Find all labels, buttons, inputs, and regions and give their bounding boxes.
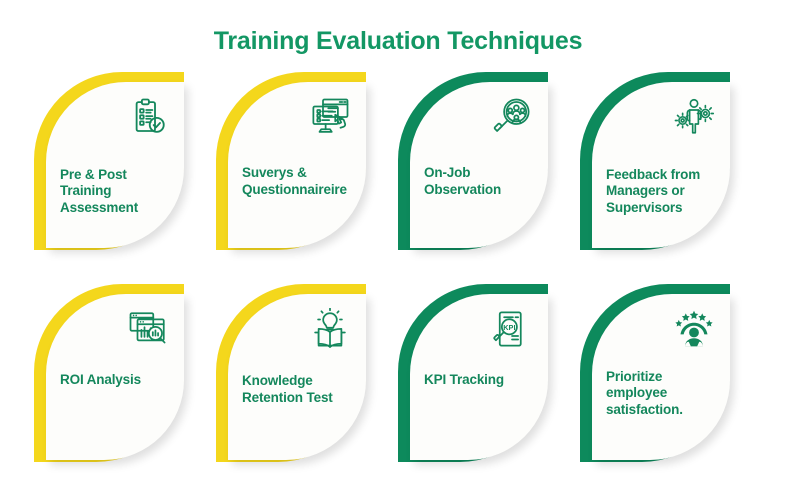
card-roi-analysis[interactable]: ROI Analysis <box>34 284 216 470</box>
card-surveys-questionnaire[interactable]: Suverys & Questionnaireire <box>216 72 398 258</box>
card-feedback-managers-supervisors[interactable]: Feedback from Managers or Supervisors <box>580 72 762 258</box>
card-face: Pre & Post Training Assessment <box>46 82 184 248</box>
lightbulb-book-icon <box>308 308 352 350</box>
clipboard-check-icon <box>126 96 170 138</box>
card-face: Suverys & Questionnaireire <box>228 82 366 248</box>
magnifier-people-icon <box>490 96 534 138</box>
page-title: Training Evaluation Techniques <box>0 0 796 56</box>
card-pre-post-training-assessment[interactable]: Pre & Post Training Assessment <box>34 72 216 258</box>
person-gears-icon <box>672 96 716 138</box>
infographic-root: Training Evaluation Techniques <box>0 0 796 488</box>
card-label: ROI Analysis <box>60 372 176 388</box>
card-on-job-observation[interactable]: On-Job Observation <box>398 72 580 258</box>
card-label: Knowledge Retention Test <box>242 373 366 406</box>
card-face: Prioritize employee satisfaction. <box>592 294 730 460</box>
card-face: KPI KPI Tracking <box>410 294 548 460</box>
card-face: ROI Analysis <box>46 294 184 460</box>
card-label: Pre & Post Training Assessment <box>60 167 176 216</box>
kpi-document-magnifier-icon: KPI <box>490 308 534 350</box>
card-kpi-tracking[interactable]: KPI KPI Tracking <box>398 284 580 470</box>
card-label: Feedback from Managers or Supervisors <box>606 167 730 216</box>
card-face: Feedback from Managers or Supervisors <box>592 82 730 248</box>
card-label: Prioritize employee satisfaction. <box>606 369 722 418</box>
card-label: KPI Tracking <box>424 372 540 388</box>
card-face: Knowledge Retention Test <box>228 294 366 460</box>
svg-text:KPI: KPI <box>503 323 515 332</box>
card-label: Suverys & Questionnaireire <box>242 165 366 198</box>
card-face: On-Job Observation <box>410 82 548 248</box>
card-label: On-Job Observation <box>424 165 540 198</box>
card-prioritize-employee-satisfaction[interactable]: Prioritize employee satisfaction. <box>580 284 762 470</box>
monitor-survey-cursor-icon <box>308 96 352 138</box>
card-grid: Pre & Post Training Assessment <box>0 72 796 480</box>
person-stars-rating-icon <box>672 308 716 350</box>
card-knowledge-retention-test[interactable]: Knowledge Retention Test <box>216 284 398 470</box>
chart-windows-magnifier-icon <box>126 308 170 350</box>
